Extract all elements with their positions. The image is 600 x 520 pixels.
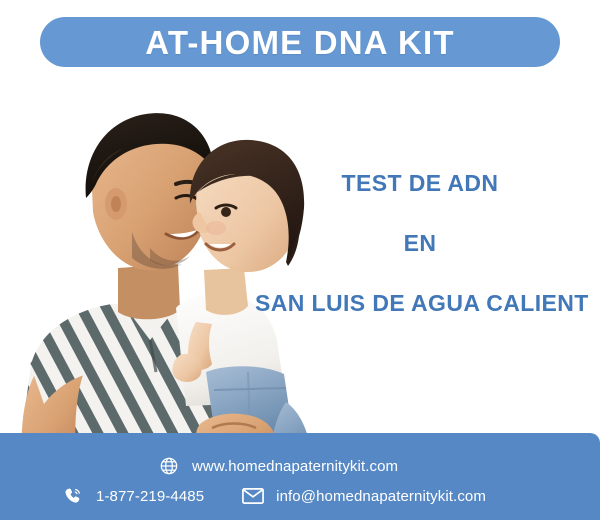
footer-website-label: www.homednapaternitykit.com — [192, 459, 398, 474]
headline-block: TEST DE ADN EN SAN LUIS DE AGUA CALIENT — [240, 160, 600, 330]
footer-email-label: info@homednapaternitykit.com — [276, 489, 486, 504]
footer-website-row: www.homednapaternitykit.com — [158, 455, 398, 477]
headline-line-2: EN — [240, 232, 600, 255]
footer-contact-bar: www.homednapaternitykit.com 1-877-219-44… — [0, 433, 600, 520]
footer-email-item[interactable]: info@homednapaternitykit.com — [242, 485, 486, 507]
header-badge: AT-HOME DNA KIT — [40, 17, 560, 67]
poster-canvas: AT-HOME DNA KIT — [0, 0, 600, 520]
footer-phone-item[interactable]: 1-877-219-4485 — [62, 485, 204, 507]
footer-contact-row: 1-877-219-4485 info@homednapaternitykit.… — [62, 485, 486, 507]
envelope-icon — [242, 485, 264, 507]
phone-icon — [62, 485, 84, 507]
headline-line-1: TEST DE ADN — [240, 172, 600, 195]
globe-icon — [158, 455, 180, 477]
footer-website-item[interactable]: www.homednapaternitykit.com — [158, 455, 398, 477]
headline-line-3: SAN LUIS DE AGUA CALIENT — [255, 292, 600, 315]
header-badge-label: AT-HOME DNA KIT — [145, 26, 454, 59]
footer-phone-label: 1-877-219-4485 — [96, 489, 204, 504]
